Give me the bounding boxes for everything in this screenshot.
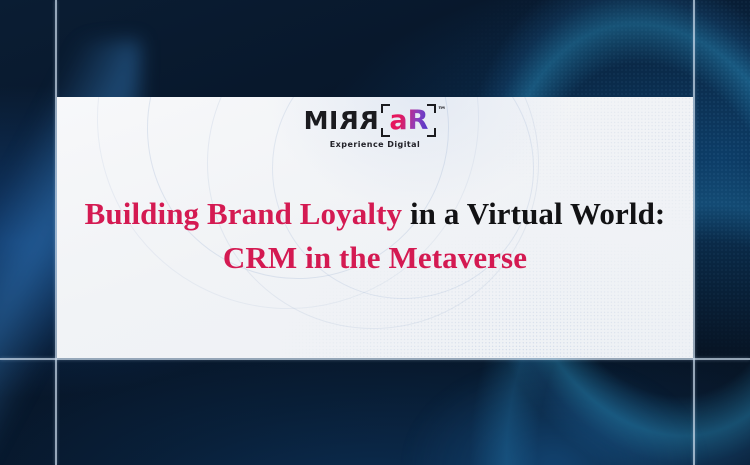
brand-badge-text: aR: [389, 105, 428, 136]
brand-wordmark-letter-i: I: [329, 106, 339, 135]
bracket-corner-bottom-right-icon: [427, 128, 436, 137]
brand-wordmark: MIRR: [304, 108, 379, 133]
headline-accent-1: Building Brand Loyalty: [85, 196, 402, 231]
brand-wordmark-letter-m: M: [304, 106, 329, 135]
brand-badge-frame: aR: [381, 104, 436, 137]
bracket-corner-top-right-icon: [427, 104, 436, 113]
brand-tagline: Experience Digital: [330, 140, 420, 149]
headline-accent-2: CRM in the Metaverse: [223, 240, 527, 275]
brand-wordmark-letter-r1: R: [339, 108, 359, 133]
brand-wordmark-letter-r2: R: [359, 108, 379, 133]
content-panel: MIRR aR ™ Experience Digital Building Br…: [57, 97, 693, 358]
headline-plain-1: in a Virtual: [402, 196, 563, 231]
divider-horizontal-bottom: [0, 358, 750, 360]
trademark-symbol: ™: [437, 106, 446, 116]
brand-logo[interactable]: MIRR aR ™ Experience Digital: [57, 105, 693, 149]
page-title: Building Brand Loyalty in a Virtual Worl…: [79, 192, 671, 280]
brand-logo-row: MIRR aR ™: [304, 105, 447, 135]
bracket-corner-bottom-left-icon: [381, 128, 390, 137]
divider-vertical-right: [693, 0, 695, 465]
bracket-corner-top-left-icon: [381, 104, 390, 113]
blog-banner: MIRR aR ™ Experience Digital Building Br…: [0, 0, 750, 465]
headline-plain-2: World:: [570, 196, 665, 231]
